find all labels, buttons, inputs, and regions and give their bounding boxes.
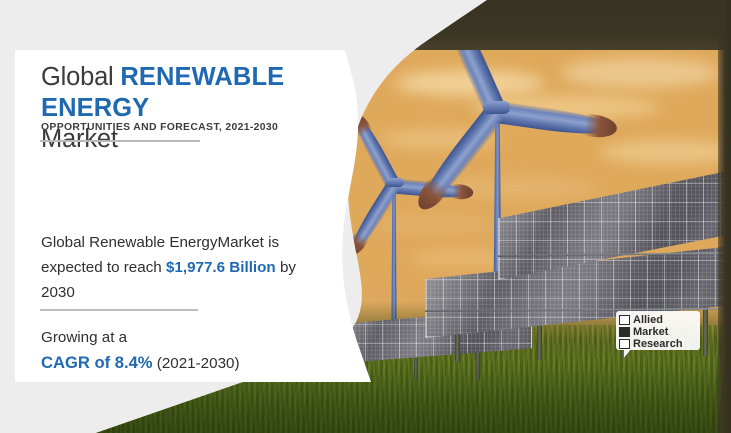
- turbine-blade: [412, 105, 504, 215]
- solar-panel-array-front: [498, 170, 731, 298]
- growth-lead: Growing at a: [41, 329, 127, 346]
- logo-bubble-tail-icon: [624, 349, 631, 358]
- growth-value: CAGR of 8.4%: [41, 353, 153, 372]
- photo-top-dark-band: [0, 0, 731, 50]
- content-card: Global RENEWABLE ENERGYMarket OPPORTUNIT…: [15, 50, 385, 382]
- subtitle: OPPORTUNITIES AND FORECAST, 2021-2030: [41, 122, 278, 133]
- logo-line-1-text: Allied: [633, 314, 663, 326]
- logo-square-icon: [619, 339, 630, 349]
- logo-line-2: Market: [619, 326, 668, 338]
- market-value-statement: Global Renewable EnergyMarket is expecte…: [41, 230, 331, 305]
- logo-line-2-text: Market: [633, 326, 668, 338]
- cagr-statement: Growing at aCAGR of 8.4% (2021-2030): [41, 325, 331, 376]
- subtitle-underline: [40, 140, 200, 142]
- statement-value: $1,977.6 Billion: [166, 259, 276, 276]
- logo-square-icon: [619, 315, 630, 325]
- section-divider-rule: [40, 309, 198, 311]
- logo-line-3-text: Research: [633, 338, 683, 350]
- turbine-nacelle: [483, 101, 510, 114]
- logo-square-icon: [619, 327, 630, 337]
- turbine-nacelle: [385, 178, 404, 187]
- growth-trail: (2021-2030): [153, 355, 240, 372]
- panel-support-post: [703, 304, 708, 356]
- turbine-blade: [494, 101, 618, 140]
- title-lead: Global: [41, 63, 120, 91]
- solar-panel-row: [498, 170, 731, 280]
- logo-line-3: Research: [619, 338, 683, 350]
- turbine-blade: [345, 182, 400, 258]
- photo-right-dark-strip: [718, 0, 731, 433]
- allied-market-research-logo: Allied Market Research: [616, 311, 702, 358]
- infographic-canvas: Global RENEWABLE ENERGYMarket OPPORTUNIT…: [0, 0, 731, 433]
- logo-line-1: Allied: [619, 314, 663, 326]
